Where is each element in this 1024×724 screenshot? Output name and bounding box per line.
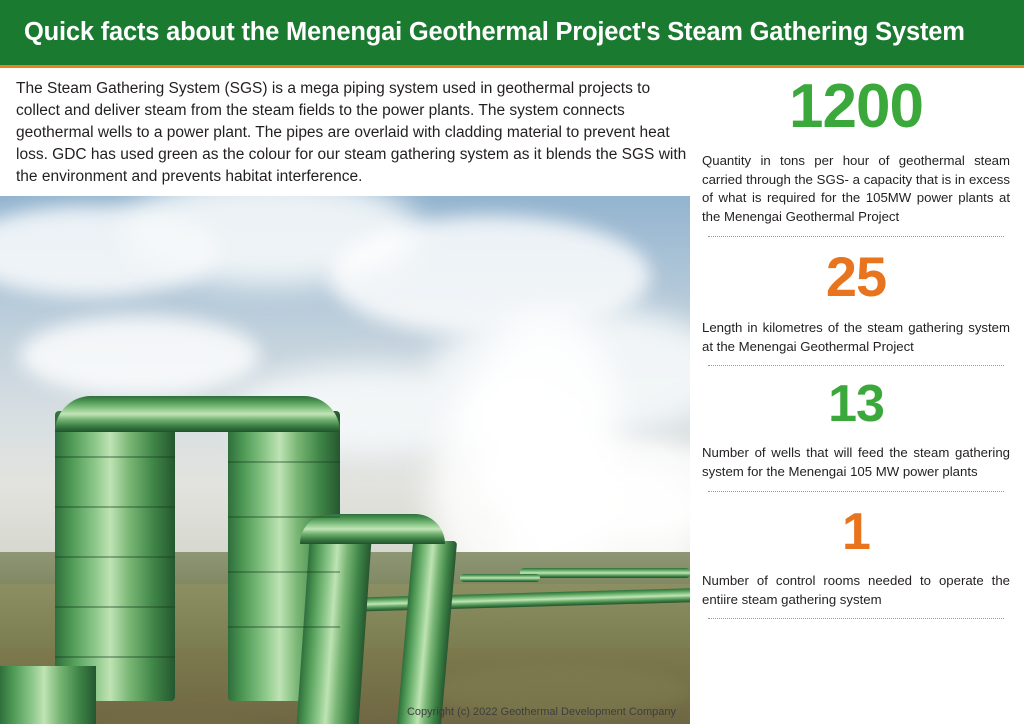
copyright-text: Copyright (c) 2022 Geothermal Developmen…: [407, 706, 676, 718]
page-header: Quick facts about the Menengai Geotherma…: [0, 0, 1024, 68]
fact-number: 1: [700, 506, 1012, 558]
fact-number: 1200: [700, 76, 1012, 138]
pipe-band: [55, 456, 175, 458]
infographic-page: Quick facts about the Menengai Geotherma…: [0, 0, 1024, 724]
fact-item: 1 Number of control rooms needed to oper…: [700, 506, 1012, 619]
pipe-band: [228, 571, 340, 573]
cloud-icon: [20, 316, 260, 396]
fact-description: Number of control rooms needed to operat…: [700, 572, 1012, 609]
pipe-top-bend-right: [300, 514, 445, 544]
pipe-band: [55, 606, 175, 608]
pipe-band: [228, 626, 340, 628]
fact-divider: [708, 365, 1004, 366]
pipe-band: [228, 516, 340, 518]
fact-number: 13: [700, 378, 1012, 430]
pipe-band: [228, 461, 340, 463]
fact-item: 13 Number of wells that will feed the st…: [700, 378, 1012, 491]
intro-paragraph: The Steam Gathering System (SGS) is a me…: [16, 78, 688, 188]
fact-divider: [708, 236, 1004, 237]
pipe-foreground-elbow: [0, 666, 96, 724]
pipe-distant-horizontal: [460, 574, 540, 582]
fact-number: 25: [700, 249, 1012, 305]
fact-item: 25 Length in kilometres of the steam gat…: [700, 249, 1012, 366]
steam-pipes-photo: Copyright (c) 2022 Geothermal Developmen…: [0, 196, 690, 724]
fact-item: 1200 Quantity in tons per hour of geothe…: [700, 76, 1012, 237]
pipe-band: [55, 556, 175, 558]
page-title: Quick facts about the Menengai Geotherma…: [24, 18, 965, 47]
fact-divider: [708, 618, 1004, 619]
pipe-band: [55, 656, 175, 658]
pipe-band: [55, 506, 175, 508]
fact-description: Number of wells that will feed the steam…: [700, 444, 1012, 481]
fact-description: Length in kilometres of the steam gather…: [700, 319, 1012, 356]
pipe-top-bend-left: [55, 396, 340, 432]
pipe-distant-horizontal: [520, 568, 690, 578]
fact-description: Quantity in tons per hour of geothermal …: [700, 152, 1012, 227]
fact-divider: [708, 491, 1004, 492]
facts-column: 1200 Quantity in tons per hour of geothe…: [700, 76, 1012, 619]
